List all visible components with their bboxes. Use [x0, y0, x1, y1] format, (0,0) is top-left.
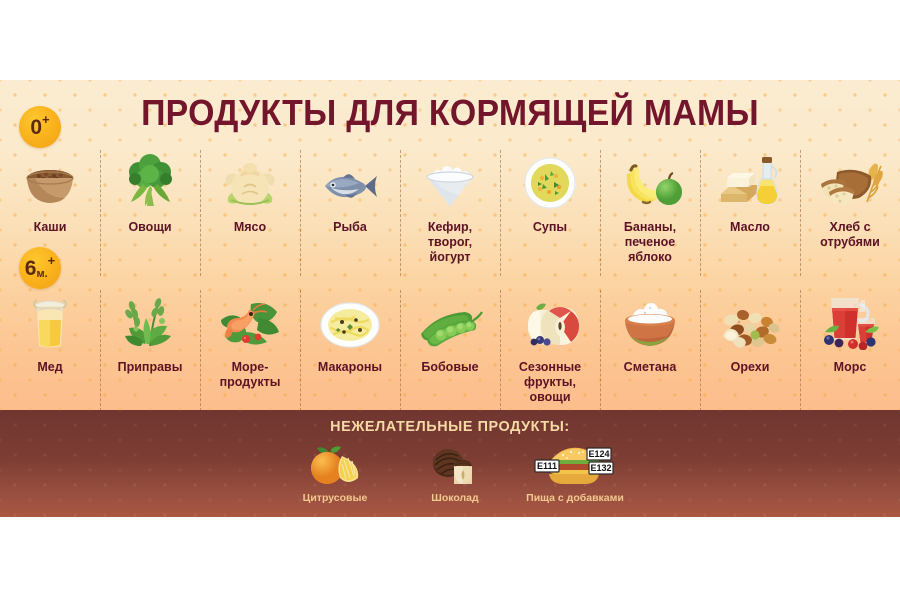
broccoli-icon	[121, 148, 179, 210]
butter-oil-icon	[717, 148, 783, 210]
age-badge-0plus: 0+	[19, 106, 61, 148]
product-label: Мед	[37, 360, 62, 375]
product-label: Супы	[533, 220, 567, 235]
product-label: Овощи	[128, 220, 171, 235]
product-label: Масло	[730, 220, 770, 235]
apple-berries-icon	[518, 288, 582, 350]
svg-text:E124: E124	[588, 449, 609, 459]
banana-apple-icon	[617, 148, 683, 210]
pasta-plate-icon	[320, 288, 380, 350]
product-label: Кефир, творог, йогурт	[428, 220, 472, 264]
nuts-icon	[717, 288, 783, 350]
product-cell-meat: Мясо	[200, 148, 300, 288]
product-cell-porridge: Каши	[0, 148, 100, 288]
product-cell-seasonal-fruit: Сезонные фрукты, овощи	[500, 288, 600, 418]
product-label: Мясо	[234, 220, 266, 235]
product-cell-pasta: Макароны	[300, 288, 400, 418]
product-cell-soups: Супы	[500, 148, 600, 288]
product-cell-nuts: Орехи	[700, 288, 800, 418]
product-cell-vegetables: Овощи	[100, 148, 200, 288]
product-label: Сезонные фрукты, овощи	[519, 360, 581, 404]
product-cell-dairy: Кефир, творог, йогурт	[400, 148, 500, 288]
product-cell-honey: Мед	[0, 288, 100, 418]
chocolate-candy-icon	[428, 440, 482, 488]
product-label: Морс	[834, 360, 867, 375]
product-label: Море- продукты	[220, 360, 281, 390]
product-label: Приправы	[118, 360, 183, 375]
bran-bread-icon	[815, 148, 885, 210]
honey-jar-icon	[27, 288, 73, 350]
cottage-cheese-bowl-icon	[419, 148, 481, 210]
product-label: Макароны	[318, 360, 382, 375]
product-cell-legumes: Бобовые	[400, 288, 500, 418]
product-cell-berry-juice: Морс	[800, 288, 900, 418]
product-label: Сметана	[624, 360, 677, 375]
product-label: Бананы, печеное яблоко	[624, 220, 676, 264]
peas-pod-icon	[417, 288, 483, 350]
svg-text:E132: E132	[590, 463, 611, 473]
infographic-poster: ПРОДУКТЫ ДЛЯ КОРМЯЩЕЙ МАМЫ 0+ 6м.+	[0, 80, 900, 517]
product-cell-butter: Масло	[700, 148, 800, 288]
undesirable-label: Цитрусовые	[303, 492, 368, 504]
seafood-shrimp-icon	[215, 288, 285, 350]
burger-additives-icon: E124 E111 E132	[533, 440, 617, 488]
sour-cream-bowl-icon	[619, 288, 681, 350]
age-badge-0plus-plus: +	[42, 113, 50, 126]
undesirable-section-title: НЕЖЕЛАТЕЛЬНЫЕ ПРОДУКТЫ:	[18, 418, 882, 435]
porridge-bowl-icon	[19, 148, 81, 210]
svg-text:E111: E111	[537, 461, 557, 471]
product-label: Рыба	[333, 220, 367, 235]
product-cell-seafood: Море- продукты	[200, 288, 300, 418]
undesirable-label: Пища с добавками	[526, 492, 624, 504]
fish-icon	[319, 148, 381, 210]
product-label: Каши	[34, 220, 67, 235]
herbs-icon	[119, 288, 181, 350]
product-cell-sour-cream: Сметана	[600, 288, 700, 418]
berry-juice-icon	[819, 288, 881, 350]
product-label: Бобовые	[421, 360, 478, 375]
product-cell-fish: Рыба	[300, 148, 400, 288]
soup-bowl-icon	[522, 148, 578, 210]
undesirable-cell-citrus: Цитрусовые	[280, 440, 390, 514]
undesirable-label: Шоколад	[431, 492, 478, 504]
product-cell-seasonings: Приправы	[100, 288, 200, 418]
undesirable-cell-chocolate: Шоколад	[400, 440, 510, 514]
product-label: Орехи	[731, 360, 770, 375]
product-label: Хлеб с отрубями	[820, 220, 880, 250]
undesirable-items-row: Цитрусовые	[280, 440, 630, 514]
product-cell-bran-bread: Хлеб с отрубями	[800, 148, 900, 288]
product-cell-bananas-apple: Бананы, печеное яблоко	[600, 148, 700, 288]
product-row-from-birth: Каши Овощи	[0, 148, 900, 288]
age-badge-0plus-number: 0	[30, 117, 42, 138]
undesirable-cell-additives: E124 E111 E132 Пища с добавками	[520, 440, 630, 514]
citrus-orange-icon	[308, 440, 362, 488]
product-row-from-six-months: Мед	[0, 288, 900, 418]
page-title: ПРОДУКТЫ ДЛЯ КОРМЯЩЕЙ МАМЫ	[27, 92, 873, 134]
undesirable-products-section: НЕЖЕЛАТЕЛЬНЫЕ ПРОДУКТЫ:	[0, 410, 900, 517]
chicken-icon	[220, 148, 280, 210]
